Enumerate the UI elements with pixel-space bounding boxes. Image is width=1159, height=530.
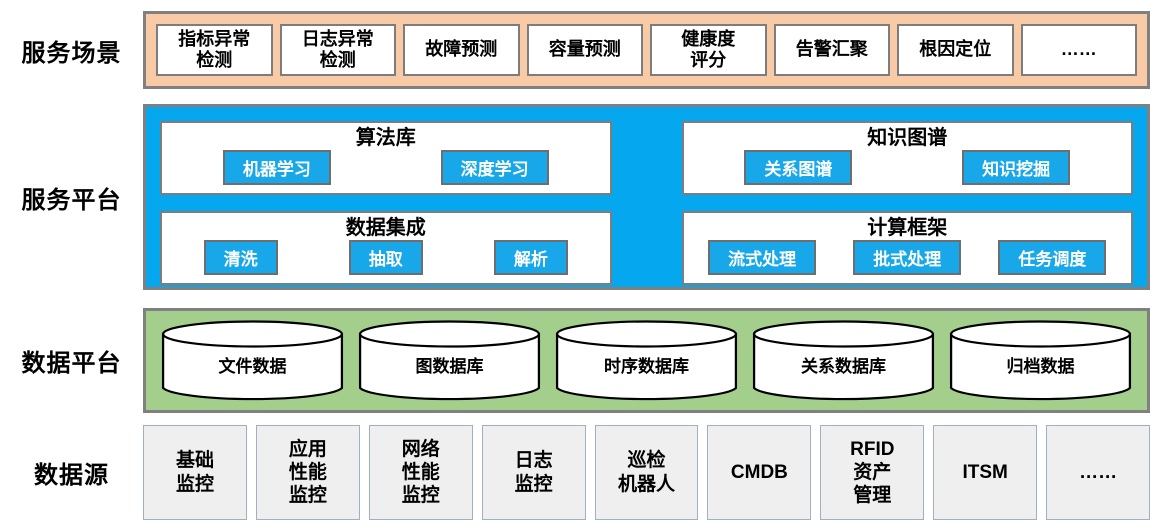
- row-label-service-platform: 服务平台: [0, 104, 143, 290]
- architecture-diagram: 服务场景 指标异常 检测 日志异常 检测 故障预测 容量预测 健康度 评分 告警…: [0, 0, 1159, 530]
- scene-box[interactable]: 告警汇聚: [774, 24, 891, 76]
- group-title: 计算框架: [867, 217, 947, 240]
- source-box[interactable]: 基础 监控: [143, 425, 247, 520]
- data-platform-band: 文件数据 图数据库 时序数据库: [143, 308, 1150, 413]
- data-store-cylinder[interactable]: 文件数据: [160, 319, 345, 403]
- data-store-label: 关系数据库: [801, 352, 886, 377]
- source-box[interactable]: CMDB: [707, 425, 811, 520]
- data-store-cylinder[interactable]: 时序数据库: [554, 319, 739, 403]
- service-platform-band: 算法库 机器学习 深度学习 知识图谱 关系图谱 知识挖掘 数据集成: [143, 104, 1150, 290]
- chip-row: 流式处理 批式处理 任务调度: [694, 240, 1122, 275]
- platform-chip[interactable]: 任务调度: [998, 240, 1106, 275]
- platform-chip[interactable]: 批式处理: [853, 240, 961, 275]
- platform-group-knowledge-graph[interactable]: 知识图谱 关系图谱 知识挖掘: [682, 121, 1134, 195]
- group-title: 算法库: [356, 127, 416, 150]
- source-box[interactable]: ITSM: [933, 425, 1037, 520]
- service-platform-group-list: 算法库 机器学习 深度学习 知识图谱 关系图谱 知识挖掘 数据集成: [160, 121, 1133, 273]
- platform-chip[interactable]: 清洗: [204, 240, 278, 275]
- group-title: 数据集成: [346, 217, 426, 240]
- source-box-ellipsis[interactable]: ……: [1046, 425, 1150, 520]
- platform-chip[interactable]: 知识挖掘: [962, 150, 1070, 185]
- data-store-label: 文件数据: [219, 352, 287, 377]
- platform-chip[interactable]: 机器学习: [223, 150, 331, 185]
- data-source-box-list: 基础 监控 应用 性能 监控 网络 性能 监控 日志 监控 巡检 机器人 CMD…: [143, 425, 1150, 520]
- scene-box[interactable]: 指标异常 检测: [156, 24, 273, 76]
- platform-group-data-integration[interactable]: 数据集成 清洗 抽取 解析: [160, 211, 612, 285]
- group-title: 知识图谱: [867, 127, 947, 150]
- source-box[interactable]: 网络 性能 监控: [369, 425, 473, 520]
- platform-chip[interactable]: 关系图谱: [744, 150, 852, 185]
- scene-box[interactable]: 容量预测: [527, 24, 644, 76]
- source-box[interactable]: 日志 监控: [482, 425, 586, 520]
- platform-group-row-bottom: 数据集成 清洗 抽取 解析 计算框架 流式处理 批式处理 任务调度: [160, 211, 1133, 285]
- chip-row: 清洗 抽取 解析: [172, 240, 600, 275]
- row-label-data-source: 数据源: [0, 425, 143, 520]
- chip-row: 关系图谱 知识挖掘: [694, 150, 1122, 185]
- scene-box-ellipsis[interactable]: ……: [1021, 24, 1138, 76]
- platform-group-algorithm-library[interactable]: 算法库 机器学习 深度学习: [160, 121, 612, 195]
- platform-chip[interactable]: 解析: [494, 240, 568, 275]
- platform-group-row-top: 算法库 机器学习 深度学习 知识图谱 关系图谱 知识挖掘: [160, 121, 1133, 195]
- row-label-data-platform: 数据平台: [0, 308, 143, 413]
- chip-row: 机器学习 深度学习: [172, 150, 600, 185]
- scene-box[interactable]: 故障预测: [403, 24, 520, 76]
- data-store-label: 图数据库: [416, 352, 484, 377]
- scene-box[interactable]: 根因定位: [897, 24, 1014, 76]
- source-box[interactable]: 巡检 机器人: [595, 425, 699, 520]
- data-store-label: 时序数据库: [604, 352, 689, 377]
- row-label-service-scene: 服务场景: [0, 11, 143, 89]
- data-store-cylinder[interactable]: 关系数据库: [751, 319, 936, 403]
- platform-chip[interactable]: 抽取: [349, 240, 423, 275]
- data-store-cylinder[interactable]: 图数据库: [357, 319, 542, 403]
- platform-group-computing-framework[interactable]: 计算框架 流式处理 批式处理 任务调度: [682, 211, 1134, 285]
- scene-box[interactable]: 日志异常 检测: [280, 24, 397, 76]
- source-box[interactable]: RFID 资产 管理: [820, 425, 924, 520]
- data-store-cylinder[interactable]: 归档数据: [948, 319, 1133, 403]
- data-store-list: 文件数据 图数据库 时序数据库: [160, 319, 1133, 402]
- service-scene-band: 指标异常 检测 日志异常 检测 故障预测 容量预测 健康度 评分 告警汇聚 根因…: [143, 11, 1150, 89]
- platform-chip[interactable]: 深度学习: [441, 150, 549, 185]
- service-scene-box-list: 指标异常 检测 日志异常 检测 故障预测 容量预测 健康度 评分 告警汇聚 根因…: [156, 24, 1137, 76]
- platform-chip[interactable]: 流式处理: [708, 240, 816, 275]
- data-store-label: 归档数据: [1007, 352, 1075, 377]
- data-source-band: 基础 监控 应用 性能 监控 网络 性能 监控 日志 监控 巡检 机器人 CMD…: [143, 425, 1150, 520]
- scene-box[interactable]: 健康度 评分: [650, 24, 767, 76]
- source-box[interactable]: 应用 性能 监控: [256, 425, 360, 520]
